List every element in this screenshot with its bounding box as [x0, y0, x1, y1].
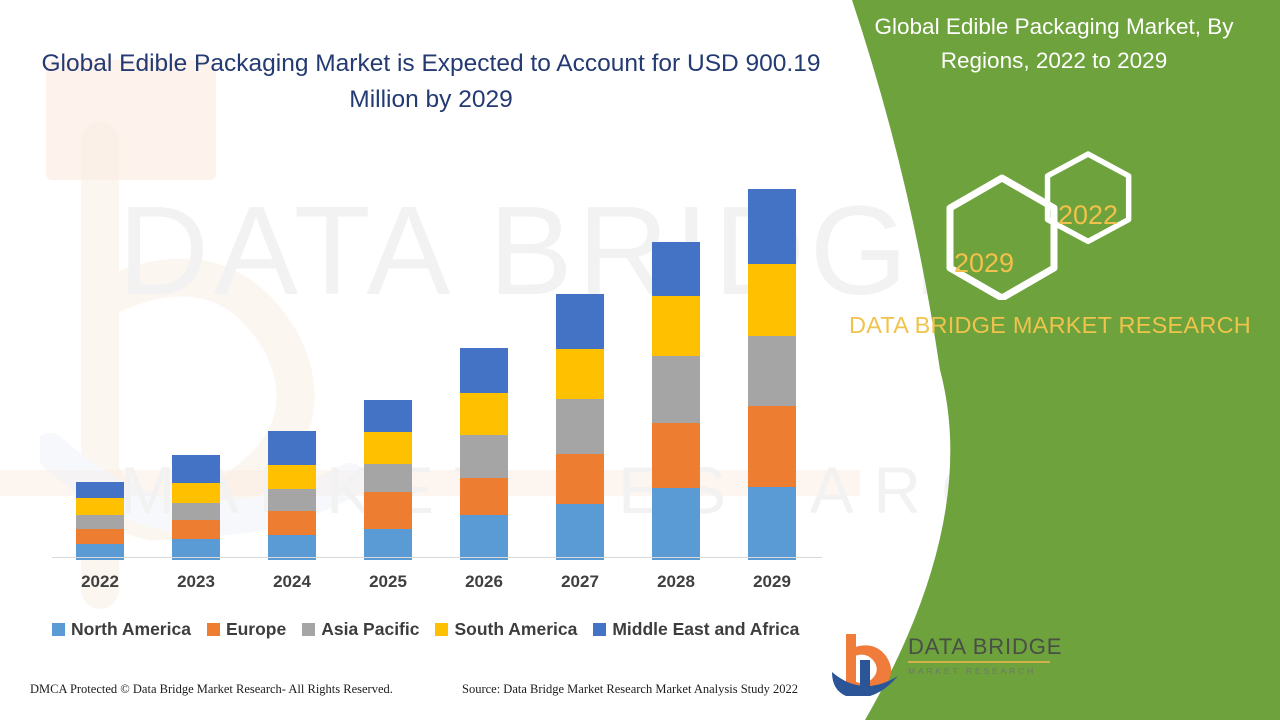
- footer-dmca-text: DMCA Protected © Data Bridge Market Rese…: [30, 682, 393, 697]
- legend-swatch-icon: [52, 623, 65, 636]
- bar-column: [76, 482, 124, 560]
- bar-column: [172, 455, 220, 560]
- data-bridge-b-mark-icon: [830, 630, 902, 696]
- bar-segment: [556, 294, 604, 349]
- bar-segment: [460, 393, 508, 435]
- bar-column: [364, 400, 412, 560]
- x-axis-label: 2028: [628, 572, 724, 592]
- page-title: Global Edible Packaging Market is Expect…: [36, 46, 826, 118]
- logo-subtitle: MARKET RESEARCH: [908, 666, 1058, 676]
- legend-item[interactable]: North America: [52, 619, 191, 640]
- x-axis-label: 2029: [724, 572, 820, 592]
- bar-segment: [364, 432, 412, 464]
- logo-title: DATA BRIDGE: [908, 634, 1058, 660]
- bar-segment: [748, 406, 796, 487]
- bar-segment: [76, 515, 124, 529]
- bar-segment: [748, 487, 796, 560]
- x-axis-labels: 20222023202420252026202720282029: [52, 572, 822, 598]
- legend-swatch-icon: [593, 623, 606, 636]
- bar-segment: [748, 189, 796, 264]
- legend-label: Europe: [226, 619, 286, 640]
- bar-segment: [268, 465, 316, 489]
- hexagon-badges: 2022 2029: [930, 140, 1170, 300]
- legend-swatch-icon: [207, 623, 220, 636]
- legend-label: Asia Pacific: [321, 619, 419, 640]
- bar-segment: [556, 454, 604, 504]
- bar-segment: [652, 356, 700, 423]
- bar-column: [268, 431, 316, 560]
- bar-segment: [364, 400, 412, 432]
- bar-segment: [76, 529, 124, 544]
- brand-name: DATA BRIDGE MARKET RESEARCH: [830, 308, 1270, 342]
- bar-segment: [460, 348, 508, 393]
- legend-item[interactable]: Middle East and Africa: [593, 619, 799, 640]
- legend-swatch-icon: [302, 623, 315, 636]
- legend-item[interactable]: Europe: [207, 619, 286, 640]
- bar-segment: [76, 498, 124, 515]
- bar-segment: [364, 464, 412, 492]
- bar-segment: [748, 264, 796, 336]
- footer: DMCA Protected © Data Bridge Market Rese…: [0, 678, 852, 708]
- bar-segment: [268, 511, 316, 535]
- hexagon-label-2022: 2022: [1058, 200, 1118, 231]
- bar-segment: [652, 296, 700, 356]
- bar-segment: [268, 489, 316, 511]
- x-axis-label: 2022: [52, 572, 148, 592]
- bar-segment: [460, 515, 508, 560]
- bar-segment: [652, 488, 700, 560]
- bar-segment: [556, 504, 604, 560]
- bar-segment: [76, 482, 124, 498]
- bar-column: [556, 294, 604, 560]
- bar-segment: [556, 349, 604, 399]
- x-axis-label: 2023: [148, 572, 244, 592]
- x-axis-label: 2025: [340, 572, 436, 592]
- legend-swatch-icon: [435, 623, 448, 636]
- bar-segment: [556, 399, 604, 454]
- x-axis-label: 2024: [244, 572, 340, 592]
- bar-segment: [748, 336, 796, 406]
- bar-segment: [652, 242, 700, 296]
- stacked-bar-chart: [52, 150, 822, 560]
- bar-column: [460, 348, 508, 560]
- legend-label: North America: [71, 619, 191, 640]
- legend-item[interactable]: South America: [435, 619, 577, 640]
- x-axis-label: 2026: [436, 572, 532, 592]
- bar-segment: [172, 520, 220, 539]
- panel-title: Global Edible Packaging Market, By Regio…: [844, 10, 1264, 78]
- data-bridge-logo: DATA BRIDGE MARKET RESEARCH: [830, 628, 1060, 700]
- infographic-root: DATA BRIDGE MARKET RESEARCH Global Edibl…: [0, 0, 1280, 720]
- bar-segment: [460, 478, 508, 515]
- bar-segment: [364, 492, 412, 529]
- bar-column: [652, 242, 700, 560]
- bar-segment: [460, 435, 508, 478]
- legend-label: South America: [454, 619, 577, 640]
- bar-segment: [172, 455, 220, 483]
- logo-text-block: DATA BRIDGE MARKET RESEARCH: [908, 634, 1058, 676]
- x-axis-line: [52, 557, 822, 558]
- bar-segment: [652, 423, 700, 488]
- bar-segment: [364, 529, 412, 560]
- bar-segment: [268, 431, 316, 465]
- x-axis-label: 2027: [532, 572, 628, 592]
- footer-source-text: Source: Data Bridge Market Research Mark…: [462, 682, 798, 697]
- legend-label: Middle East and Africa: [612, 619, 799, 640]
- chart-legend: North AmericaEuropeAsia PacificSouth Ame…: [52, 616, 842, 642]
- bar-segment: [172, 503, 220, 520]
- brand-panel: Global Edible Packaging Market, By Regio…: [820, 0, 1280, 720]
- bar-column: [748, 189, 796, 560]
- legend-item[interactable]: Asia Pacific: [302, 619, 419, 640]
- hexagon-label-2029: 2029: [954, 248, 1014, 279]
- logo-divider: [908, 661, 1050, 663]
- bar-segment: [172, 483, 220, 503]
